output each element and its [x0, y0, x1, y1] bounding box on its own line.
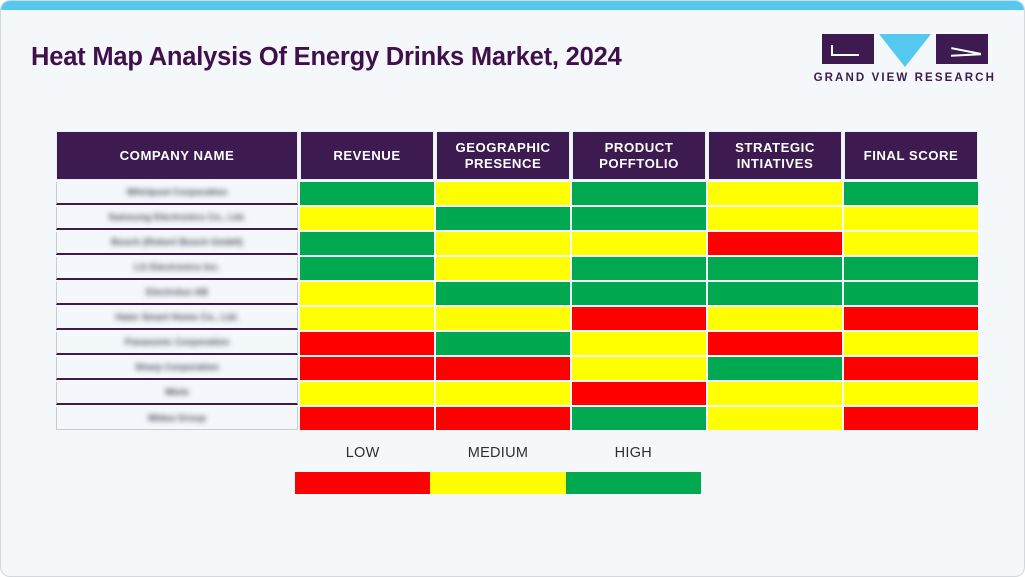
company-name-cell: Bosch (Robert Bosch GmbH)	[56, 232, 298, 255]
company-name-cell: Miele	[56, 382, 298, 405]
table-row: Haier Smart Home Co., Ltd.	[56, 307, 978, 330]
heat-cell-final-score	[844, 407, 978, 430]
company-name-label: LG Electronics Inc.	[57, 257, 297, 278]
column-header-product-portfolio: PRODUCT POFFTOLIO	[572, 131, 706, 180]
heat-cell-geographic-presence	[436, 382, 570, 405]
heat-cell-strategic-initiatives	[708, 207, 842, 230]
company-name-cell: Sharp Corporation	[56, 357, 298, 380]
heatmap-legend: LOWMEDIUMHIGH	[295, 445, 701, 494]
logo-wordmark: GRAND VIEW RESEARCH	[814, 72, 996, 84]
header-row: COMPANY NAME REVENUE GEOGRAPHIC PRESENCE…	[56, 131, 978, 180]
table-row: LG Electronics Inc.	[56, 257, 978, 280]
table-row: Whirlpool Corporation	[56, 182, 978, 205]
table-row: Bosch (Robert Bosch GmbH)	[56, 232, 978, 255]
page-header: Heat Map Analysis Of Energy Drinks Marke…	[1, 10, 1024, 104]
company-name-label: Haier Smart Home Co., Ltd.	[57, 307, 297, 328]
legend-label-medium: MEDIUM	[430, 445, 565, 461]
legend-label-high: HIGH	[566, 445, 701, 461]
heat-cell-final-score	[844, 207, 978, 230]
heat-cell-strategic-initiatives	[708, 382, 842, 405]
heat-cell-revenue	[300, 282, 434, 305]
legend-label-low: LOW	[295, 445, 430, 461]
heat-cell-final-score	[844, 382, 978, 405]
heat-cell-strategic-initiatives	[708, 307, 842, 330]
heat-cell-revenue	[300, 382, 434, 405]
heat-cell-strategic-initiatives	[708, 407, 842, 430]
heat-cell-geographic-presence	[436, 257, 570, 280]
heat-cell-revenue	[300, 357, 434, 380]
legend-labels: LOWMEDIUMHIGH	[295, 445, 701, 461]
infographic-page: Heat Map Analysis Of Energy Drinks Marke…	[0, 0, 1025, 577]
heat-cell-revenue	[300, 332, 434, 355]
column-header-strategic-initiatives: STRATEGIC INTIATIVES	[708, 131, 842, 180]
company-name-label: Samsung Electronics Co., Ltd.	[57, 207, 297, 228]
company-name-cell: Electrolux AB	[56, 282, 298, 305]
company-name-label: Bosch (Robert Bosch GmbH)	[57, 232, 297, 253]
company-name-cell: Haier Smart Home Co., Ltd.	[56, 307, 298, 330]
heat-cell-product-portfolio	[572, 332, 706, 355]
logo-left-block-icon	[822, 34, 874, 64]
heat-cell-revenue	[300, 207, 434, 230]
table-row: Panasonic Corporation	[56, 332, 978, 355]
company-name-cell: Samsung Electronics Co., Ltd.	[56, 207, 298, 230]
grand-view-research-logo: GRAND VIEW RESEARCH	[814, 34, 996, 84]
table-row: Midea Group	[56, 407, 978, 430]
heat-cell-product-portfolio	[572, 182, 706, 205]
heat-cell-geographic-presence	[436, 282, 570, 305]
heat-cell-final-score	[844, 357, 978, 380]
company-name-label: Midea Group	[57, 408, 297, 429]
heat-cell-revenue	[300, 307, 434, 330]
page-title: Heat Map Analysis Of Energy Drinks Marke…	[31, 43, 622, 72]
table-row: Sharp Corporation	[56, 357, 978, 380]
table-row: Samsung Electronics Co., Ltd.	[56, 207, 978, 230]
legend-swatch-high	[566, 472, 701, 494]
heat-cell-strategic-initiatives	[708, 182, 842, 205]
heat-cell-product-portfolio	[572, 382, 706, 405]
heat-cell-geographic-presence	[436, 357, 570, 380]
heatmap-table-body: Whirlpool CorporationSamsung Electronics…	[56, 182, 978, 430]
heat-cell-geographic-presence	[436, 207, 570, 230]
heat-cell-product-portfolio	[572, 207, 706, 230]
heat-cell-product-portfolio	[572, 407, 706, 430]
heat-cell-strategic-initiatives	[708, 332, 842, 355]
table-row: Miele	[56, 382, 978, 405]
table-row: Electrolux AB	[56, 282, 978, 305]
company-name-label: Electrolux AB	[57, 282, 297, 303]
heat-cell-strategic-initiatives	[708, 257, 842, 280]
heat-cell-revenue	[300, 257, 434, 280]
heat-cell-product-portfolio	[572, 232, 706, 255]
heat-cell-geographic-presence	[436, 182, 570, 205]
heat-cell-product-portfolio	[572, 257, 706, 280]
legend-swatch-low	[295, 472, 430, 494]
column-header-final-score: FINAL SCORE	[844, 131, 978, 180]
company-name-label: Sharp Corporation	[57, 357, 297, 378]
logo-triangle-icon	[879, 34, 931, 67]
company-name-label: Whirlpool Corporation	[57, 182, 297, 203]
company-name-cell: Panasonic Corporation	[56, 332, 298, 355]
heat-cell-strategic-initiatives	[708, 282, 842, 305]
heatmap-table: COMPANY NAME REVENUE GEOGRAPHIC PRESENCE…	[54, 129, 980, 432]
legend-swatch-medium	[430, 472, 565, 494]
heat-cell-final-score	[844, 182, 978, 205]
column-header-company-name: COMPANY NAME	[56, 131, 298, 180]
column-header-geographic-presence: GEOGRAPHIC PRESENCE	[436, 131, 570, 180]
heat-cell-strategic-initiatives	[708, 357, 842, 380]
heatmap-table-head: COMPANY NAME REVENUE GEOGRAPHIC PRESENCE…	[56, 131, 978, 180]
heat-cell-product-portfolio	[572, 307, 706, 330]
company-name-label: Miele	[57, 382, 297, 403]
heat-cell-final-score	[844, 232, 978, 255]
heat-cell-revenue	[300, 182, 434, 205]
heat-cell-geographic-presence	[436, 407, 570, 430]
company-name-cell: Midea Group	[56, 407, 298, 430]
heat-cell-final-score	[844, 307, 978, 330]
heat-cell-final-score	[844, 282, 978, 305]
heat-cell-geographic-presence	[436, 232, 570, 255]
heat-cell-strategic-initiatives	[708, 232, 842, 255]
logo-right-block-icon	[936, 34, 988, 64]
heat-cell-product-portfolio	[572, 282, 706, 305]
company-name-label: Panasonic Corporation	[57, 332, 297, 353]
company-name-cell: LG Electronics Inc.	[56, 257, 298, 280]
heat-cell-final-score	[844, 332, 978, 355]
logo-marks	[822, 34, 988, 67]
heat-cell-geographic-presence	[436, 307, 570, 330]
company-name-cell: Whirlpool Corporation	[56, 182, 298, 205]
heat-cell-product-portfolio	[572, 357, 706, 380]
heat-cell-revenue	[300, 232, 434, 255]
heat-cell-final-score	[844, 257, 978, 280]
top-accent-bar	[1, 1, 1024, 10]
legend-color-bar	[295, 472, 701, 494]
heat-cell-revenue	[300, 407, 434, 430]
column-header-revenue: REVENUE	[300, 131, 434, 180]
heat-cell-geographic-presence	[436, 332, 570, 355]
